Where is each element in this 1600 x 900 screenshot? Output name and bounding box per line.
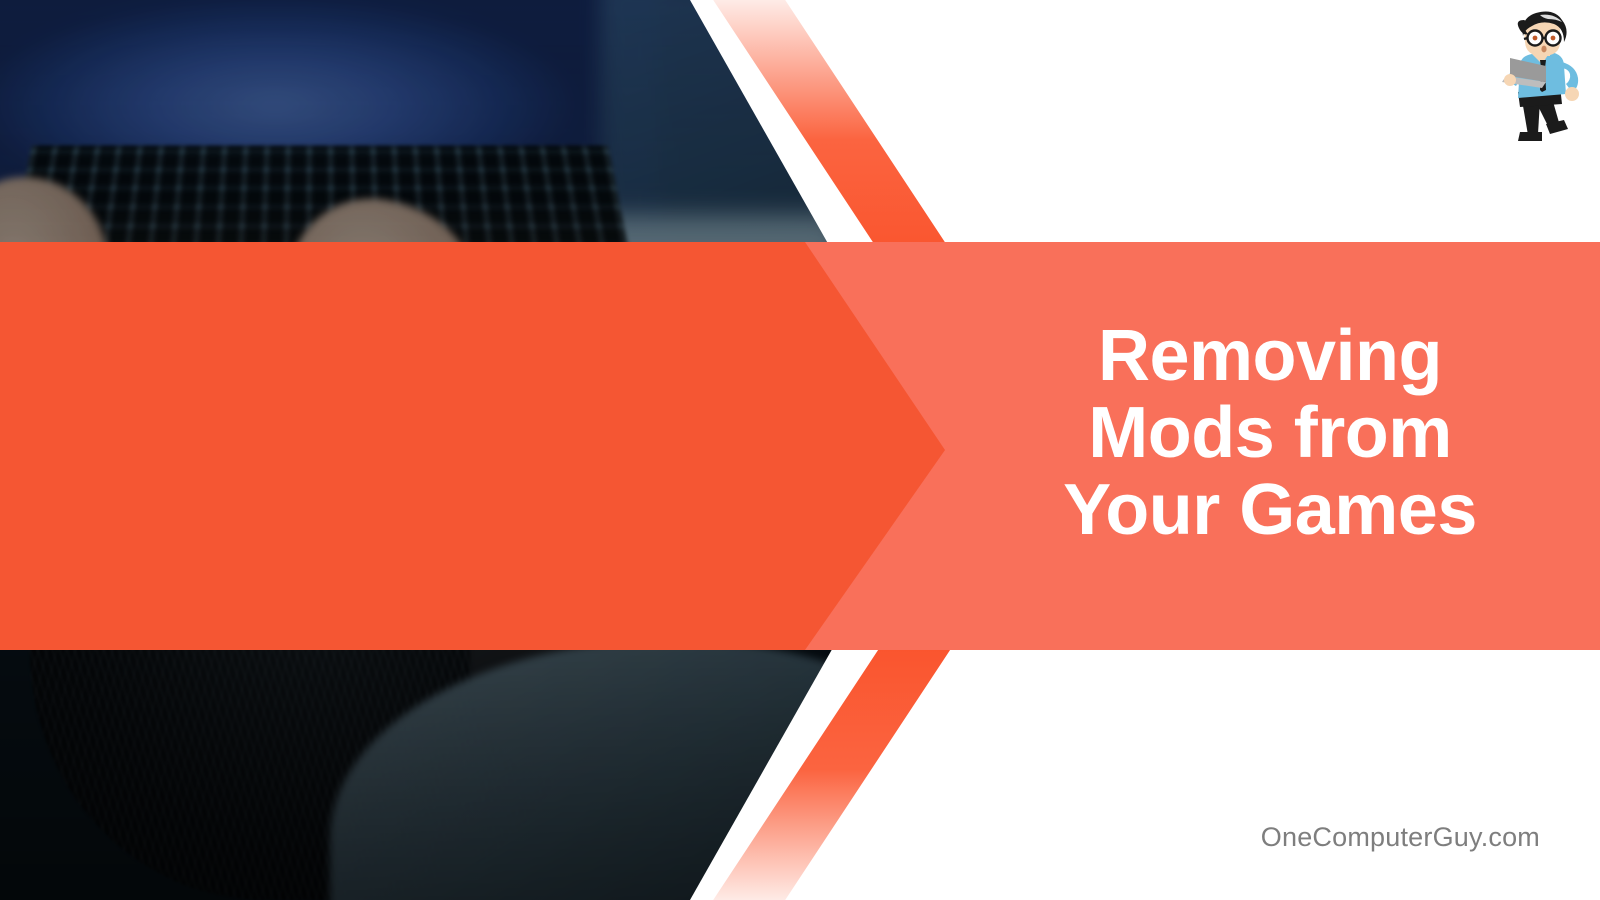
title-line-3: Your Games bbox=[1010, 472, 1530, 549]
site-url-label: OneComputerGuy.com bbox=[1060, 822, 1540, 853]
title-line-2: Mods from bbox=[1010, 395, 1530, 472]
one-computer-guy-mascot[interactable] bbox=[1480, 8, 1592, 148]
title-line-1: Removing bbox=[1010, 318, 1530, 395]
mascot-mouth bbox=[1541, 46, 1546, 53]
banner-canvas: Removing Mods from Your Games OneCompute… bbox=[0, 0, 1600, 900]
orange-band-photo-overlay bbox=[0, 242, 950, 650]
mascot-right-hand bbox=[1565, 87, 1579, 101]
page-title: Removing Mods from Your Games bbox=[1010, 318, 1530, 549]
mascot-left-hand bbox=[1504, 74, 1516, 86]
